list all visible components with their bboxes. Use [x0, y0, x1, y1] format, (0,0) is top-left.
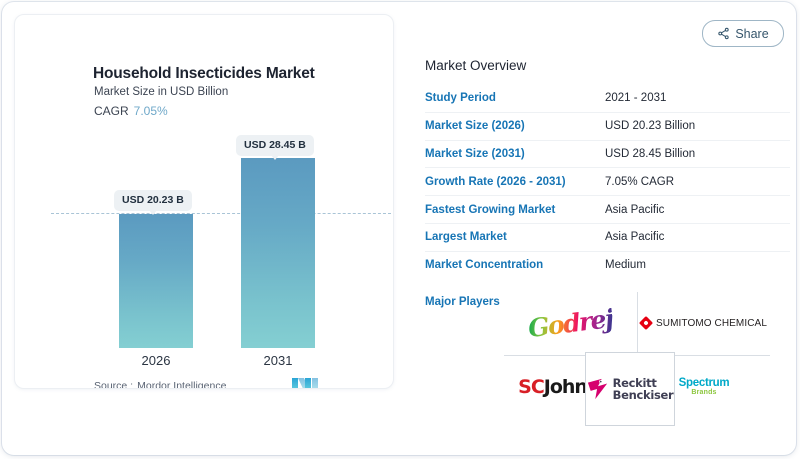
- report-overview-panel: Household Insecticides Market Market Siz…: [2, 2, 796, 455]
- reckitt-benckiser-wordmark: Reckitt Benckiser: [613, 377, 674, 402]
- grid-divider-vertical-top: [637, 292, 638, 355]
- chart-guide-line: [51, 213, 391, 214]
- table-row: Market Concentration Medium: [425, 252, 790, 279]
- sc-johnson-prefix: SC: [518, 376, 544, 398]
- sumitomo-diamond-icon: [639, 316, 653, 330]
- player-logo-godrej: Godrej: [506, 294, 634, 352]
- share-button-label: Share: [735, 27, 768, 41]
- table-row: Market Size (2031) USD 28.45 Billion: [425, 141, 790, 169]
- market-overview-table: Study Period 2021 - 2031 Market Size (20…: [425, 85, 790, 279]
- x-axis-tick-2031: 2031: [241, 353, 315, 368]
- row-value-market-concentration: Medium: [605, 259, 646, 271]
- sumitomo-inner: SUMITOMO CHEMICAL: [641, 318, 767, 329]
- market-overview-section: Share Market Overview Study Period 2021 …: [414, 14, 790, 444]
- row-value-fastest-growing-market: Asia Pacific: [605, 204, 664, 216]
- row-value-growth-rate: 7.05% CAGR: [605, 176, 674, 188]
- x-axis-tick-2026: 2026: [119, 353, 193, 368]
- chart-subtitle: Market Size in USD Billion: [94, 86, 228, 98]
- table-row: Growth Rate (2026 - 2031) 7.05% CAGR: [425, 168, 790, 196]
- bar-2031: [241, 158, 315, 348]
- reckitt-benckiser-bird-icon: [587, 377, 609, 401]
- major-players-label: Major Players: [425, 296, 500, 308]
- player-logo-reckitt-benckiser: Reckitt Benckiser: [585, 352, 675, 426]
- table-row: Study Period 2021 - 2031: [425, 85, 790, 113]
- cagr-row: CAGR7.05%: [94, 104, 168, 118]
- market-size-chart-card: Household Insecticides Market Market Siz…: [14, 14, 394, 389]
- market-overview-heading: Market Overview: [425, 58, 526, 73]
- source-name: Mordor Intelligence: [137, 380, 226, 389]
- row-value-market-size-2031: USD 28.45 Billion: [605, 148, 695, 160]
- row-key-largest-market: Largest Market: [425, 231, 605, 243]
- row-key-market-size-2026: Market Size (2026): [425, 120, 605, 132]
- source-label: Source :: [94, 380, 133, 389]
- row-value-study-period: 2021 - 2031: [605, 92, 666, 104]
- player-logo-sumitomo-chemical: SUMITOMO CHEMICAL: [640, 294, 768, 352]
- bar-value-label-2026: USD 20.23 B: [114, 190, 192, 211]
- bar-value-label-2031: USD 28.45 B: [236, 135, 314, 156]
- cagr-value: 7.05%: [134, 104, 168, 118]
- table-row: Market Size (2026) USD 20.23 Billion: [425, 113, 790, 141]
- share-button[interactable]: Share: [702, 20, 784, 47]
- reckitt-line2: Benckiser: [613, 388, 674, 402]
- cagr-label: CAGR: [94, 104, 129, 118]
- row-key-market-size-2031: Market Size (2031): [425, 148, 605, 160]
- row-key-fastest-growing-market: Fastest Growing Market: [425, 204, 605, 216]
- bar-2026: [119, 214, 193, 348]
- chart-title: Household Insecticides Market: [93, 65, 315, 83]
- sumitomo-wordmark: SUMITOMO CHEMICAL: [656, 318, 767, 329]
- spectrum-subwordmark: Brands: [679, 389, 730, 396]
- row-key-market-concentration: Market Concentration: [425, 259, 605, 271]
- row-value-largest-market: Asia Pacific: [605, 231, 664, 243]
- spectrum-inner: Spectrum Brands: [679, 378, 730, 396]
- chart-source: Source :Mordor Intelligence: [94, 380, 226, 389]
- row-value-market-size-2026: USD 20.23 Billion: [605, 120, 695, 132]
- godrej-wordmark: Godrej: [526, 303, 614, 342]
- row-key-growth-rate: Growth Rate (2026 - 2031): [425, 176, 605, 188]
- row-key-study-period: Study Period: [425, 92, 605, 104]
- mordor-intelligence-logo-icon: [292, 378, 318, 389]
- table-row: Largest Market Asia Pacific: [425, 224, 790, 252]
- share-nodes-icon: [717, 27, 730, 40]
- table-row: Fastest Growing Market Asia Pacific: [425, 196, 790, 224]
